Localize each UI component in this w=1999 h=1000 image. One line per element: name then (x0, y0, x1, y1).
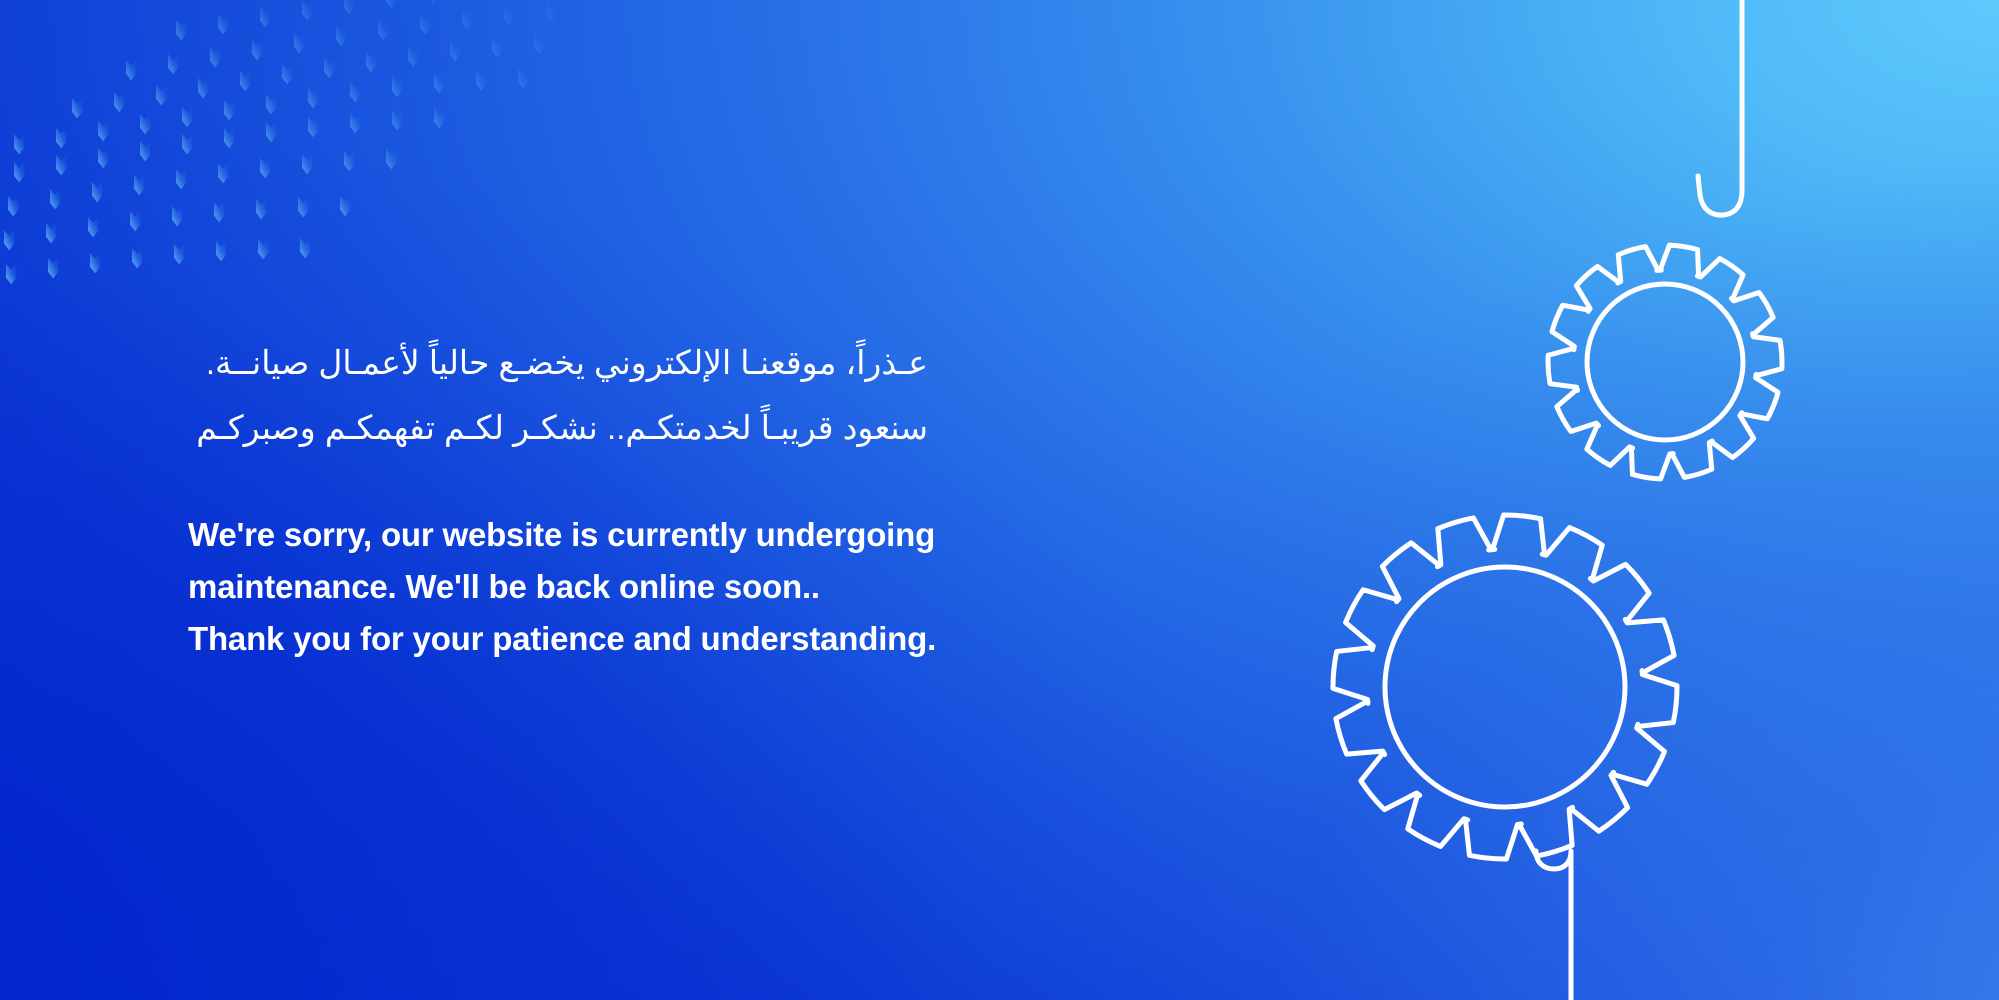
message-english-line-2: maintenance. We'll be back online soon.. (188, 561, 1188, 613)
message-arabic-line-2: سنعود قريبـاً لخدمتكـم.. نشكـر لكـم تفهم… (188, 395, 928, 460)
message-english: We're sorry, our website is currently un… (188, 509, 1188, 665)
maintenance-page: عـذراً، موقعنـا الإلكتروني يخضـع حالياً … (0, 0, 1999, 1000)
message-arabic: عـذراً، موقعنـا الإلكتروني يخضـع حالياً … (188, 330, 928, 461)
message-arabic-line-1: عـذراً، موقعنـا الإلكتروني يخضـع حالياً … (188, 330, 928, 395)
message-english-line-1: We're sorry, our website is currently un… (188, 509, 1188, 561)
message-english-line-3: Thank you for your patience and understa… (188, 613, 1188, 665)
message-block: عـذراً، موقعنـا الإلكتروني يخضـع حالياً … (188, 330, 1188, 665)
